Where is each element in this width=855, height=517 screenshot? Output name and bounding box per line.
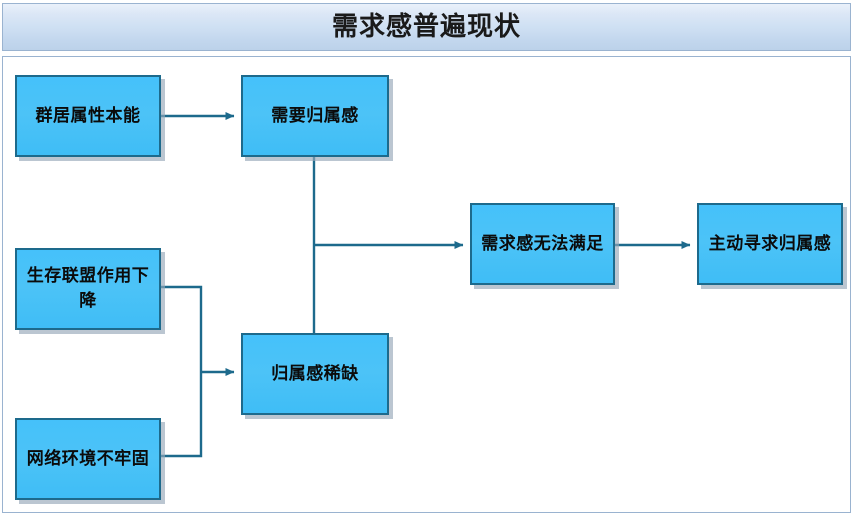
diagram-canvas: 群居属性本能 需要归属感 生存联盟作用下降 网络环境不牢固 归属感稀缺 需求感无… — [2, 56, 851, 513]
page-title: 需求感普遍现状 — [332, 14, 521, 40]
node-survival-alliance-decline[interactable]: 生存联盟作用下降 — [15, 248, 161, 330]
edge-n4-to-n5 — [161, 372, 201, 456]
node-label: 群居属性本能 — [23, 104, 153, 129]
node-label: 需要归属感 — [249, 104, 381, 129]
node-label: 需求感无法满足 — [478, 232, 607, 257]
node-unstable-network-environment[interactable]: 网络环境不牢固 — [15, 418, 161, 500]
node-group-instinct[interactable]: 群居属性本能 — [15, 75, 161, 157]
node-need-belonging[interactable]: 需要归属感 — [241, 75, 389, 157]
node-label: 生存联盟作用下降 — [23, 264, 153, 313]
node-label: 主动寻求归属感 — [705, 232, 835, 257]
edge-n3-to-n5 — [161, 287, 201, 372]
diagram-page: 需求感普遍现状 — [0, 0, 855, 517]
node-need-unmet[interactable]: 需求感无法满足 — [470, 203, 615, 285]
title-bar: 需求感普遍现状 — [2, 3, 851, 51]
node-label: 网络环境不牢固 — [23, 447, 153, 472]
node-belonging-scarcity[interactable]: 归属感稀缺 — [241, 333, 389, 415]
node-actively-seek-belonging[interactable]: 主动寻求归属感 — [697, 203, 843, 285]
node-label: 归属感稀缺 — [249, 362, 381, 387]
